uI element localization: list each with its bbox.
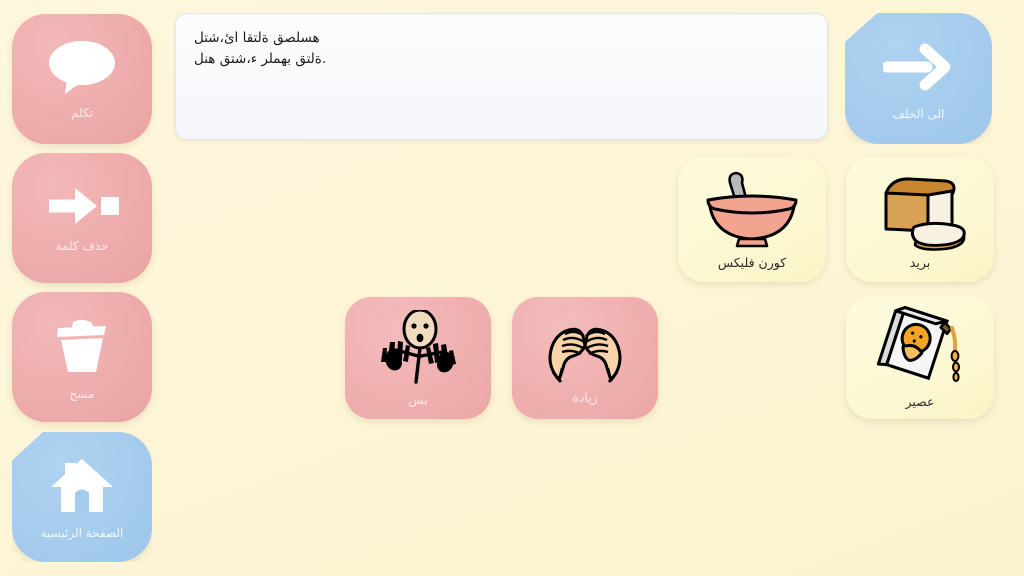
arrow-right-icon [883,38,955,96]
clear-button-label: مسح [70,388,95,400]
vocab-label-enough: بس [408,394,427,407]
hands-more-sign-icon [529,312,641,386]
cereal-bowl-icon [697,169,807,251]
speech-bubble-icon [43,39,121,95]
clear-button[interactable]: مسح [12,292,152,422]
bread-loaf-icon [866,169,974,251]
speak-button[interactable]: تكلم [12,14,152,144]
vocab-card-enough[interactable]: بس [345,297,491,419]
vocab-card-juice[interactable]: عصير [846,296,994,419]
delete-word-button-label: حذف كلمة [55,240,108,252]
message-text: هسلصق ةلتقا ائ،شتل ةلتق بهملر ء،شتق هنل. [194,28,809,70]
vocab-card-bread[interactable]: بريد [846,157,994,282]
vocab-card-corn-flakes[interactable]: كورن فليكس [678,157,826,282]
vocab-label-more: زيادة [572,392,597,405]
trash-can-icon [49,314,115,376]
back-button-label: الى الخلف [893,108,945,120]
vocab-label-juice: عصير [906,396,935,409]
vocab-label-corn-flakes: كورن فليكس [718,257,786,270]
home-button[interactable]: الصفحة الرئيسية [12,432,152,562]
vocab-label-bread: بريد [910,257,930,270]
vocab-card-more[interactable]: زيادة [512,297,658,419]
back-button[interactable]: الى الخلف [845,13,992,144]
delete-word-button[interactable]: حذف كلمة [12,153,152,283]
home-icon [49,455,115,515]
message-display-bar[interactable]: هسلصق ةلتقا ائ،شتل ةلتق بهملر ء،شتق هنل. [175,13,828,140]
juice-carton-icon [868,306,972,390]
aac-communication-board: هسلصق ةلتقا ائ،شتل ةلتق بهملر ء،شتق هنل.… [0,0,1024,576]
stick-figure-stop-icon [366,310,470,388]
speak-button-label: تكلم [71,107,93,119]
home-button-label: الصفحة الرئيسية [41,527,124,539]
backspace-arrow-icon [41,184,123,228]
